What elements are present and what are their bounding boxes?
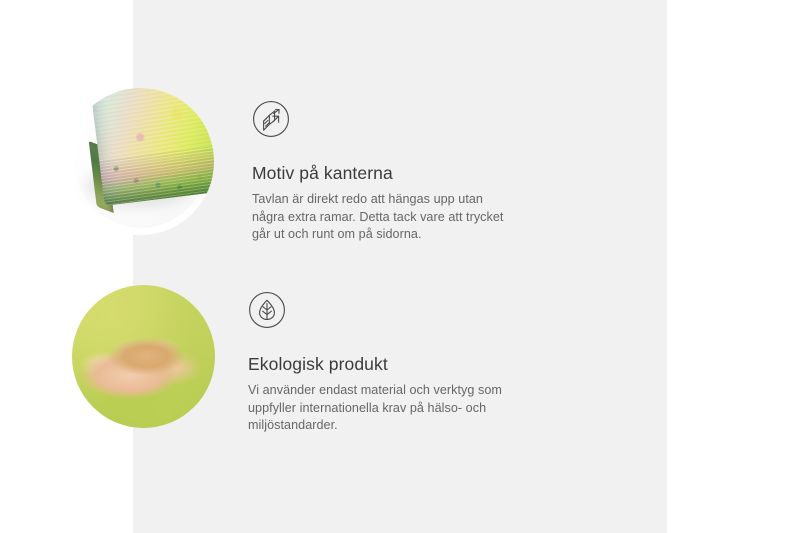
hands-holding-wood-chips-photo [72,285,215,428]
content-panel [133,0,667,533]
feature-block-ekologisk-produkt: Ekologisk produkt Vi använder endast mat… [72,285,510,435]
leaf-icon [248,291,510,334]
feature-description: Vi använder endast material och verktyg … [248,382,510,435]
feature-description: Tavlan är direkt redo att hängas upp uta… [252,191,514,244]
product-feature-banner: Motiv på kanterna Tavlan är direkt redo … [0,0,800,533]
feature-block-motiv-pa-kanterna: Motiv på kanterna Tavlan är direkt redo … [67,88,514,244]
feature-text-column: Motiv på kanterna Tavlan är direkt redo … [252,88,514,244]
feature-title: Motiv på kanterna [252,162,514,184]
canvas-print-front-face [90,88,214,206]
canvas-print-corner-photo [67,88,214,235]
feature-text-column: Ekologisk produkt Vi använder endast mat… [248,285,510,435]
canvas-print-block [82,88,214,235]
feature-title: Ekologisk produkt [248,353,510,375]
canvas-wrapped-edge-icon [252,100,514,143]
